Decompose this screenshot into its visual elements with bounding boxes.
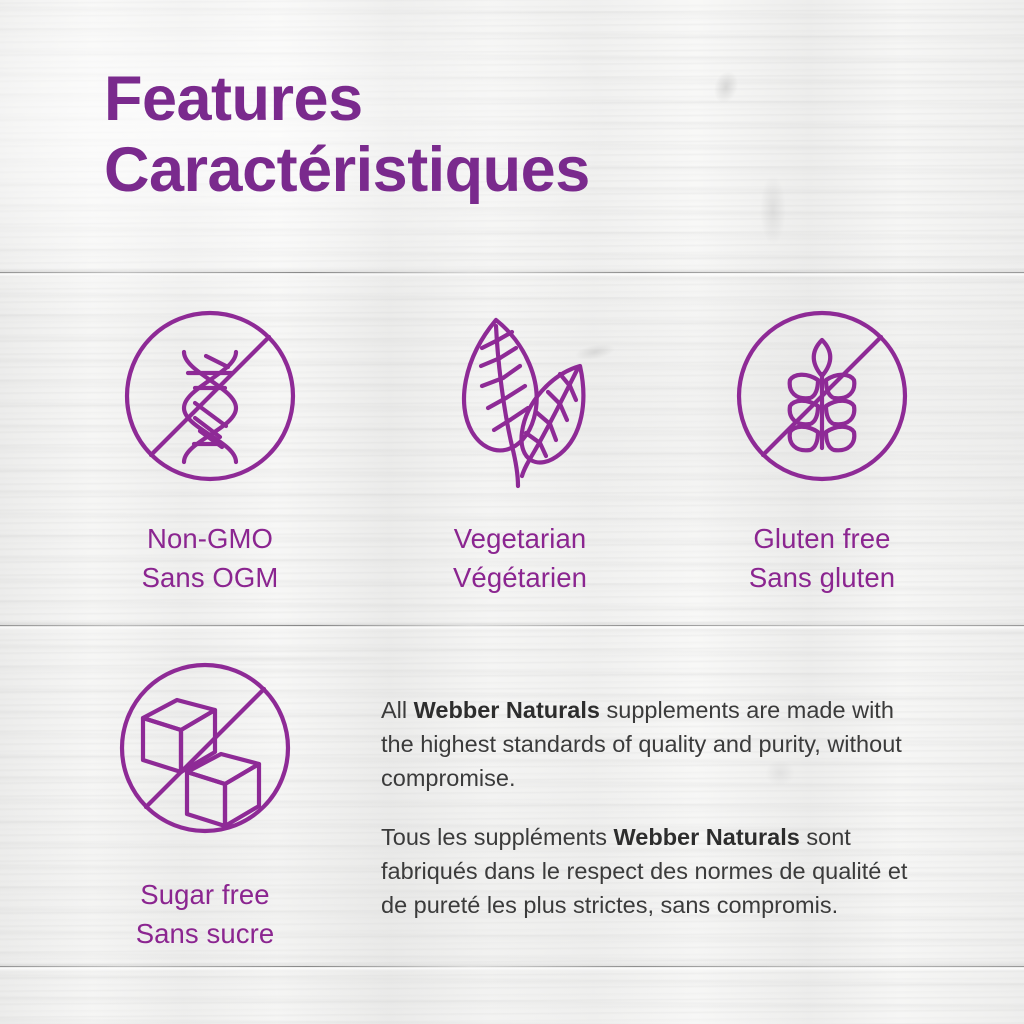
feature-item-non-gmo: Non-GMO Sans OGM — [60, 296, 360, 597]
paragraph-en: All Webber Naturals supplements are made… — [381, 694, 926, 795]
feature-caption: Non-GMO Sans OGM — [60, 519, 360, 597]
feature-label-fr: Sans sucre — [55, 914, 355, 953]
feature-item-sugar-free: Sugar free Sans sucre — [55, 648, 355, 953]
feature-label-fr: Sans gluten — [672, 558, 972, 597]
body-copy: All Webber Naturals supplements are made… — [381, 694, 926, 923]
paragraph-fr-before-brand: Tous les suppléments — [381, 824, 614, 850]
feature-label-en: Non-GMO — [60, 519, 360, 558]
no-gmo-dna-icon — [60, 296, 360, 501]
page-title-line-en: Features — [104, 64, 904, 135]
feature-label-en: Vegetarian — [370, 519, 670, 558]
brand-name: Webber Naturals — [414, 697, 600, 723]
feature-label-en: Gluten free — [672, 519, 972, 558]
feature-panel: Features Caractéristiques — [0, 0, 1024, 1024]
feature-item-vegetarian: Vegetarian Végétarien — [370, 296, 670, 597]
vegetarian-leaves-icon — [370, 296, 670, 501]
feature-caption: Gluten free Sans gluten — [672, 519, 972, 597]
feature-item-gluten-free: Gluten free Sans gluten — [672, 296, 972, 597]
paragraph-fr: Tous les suppléments Webber Naturals son… — [381, 821, 926, 922]
no-sugar-cubes-icon — [55, 648, 355, 853]
feature-label-fr: Végétarien — [370, 558, 670, 597]
no-gluten-wheat-icon — [672, 296, 972, 501]
feature-caption: Vegetarian Végétarien — [370, 519, 670, 597]
page-title: Features Caractéristiques — [104, 64, 904, 205]
page-title-line-fr: Caractéristiques — [104, 135, 904, 206]
feature-caption: Sugar free Sans sucre — [55, 875, 355, 953]
feature-label-fr: Sans OGM — [60, 558, 360, 597]
feature-label-en: Sugar free — [55, 875, 355, 914]
brand-name: Webber Naturals — [614, 824, 800, 850]
paragraph-en-before-brand: All — [381, 697, 414, 723]
